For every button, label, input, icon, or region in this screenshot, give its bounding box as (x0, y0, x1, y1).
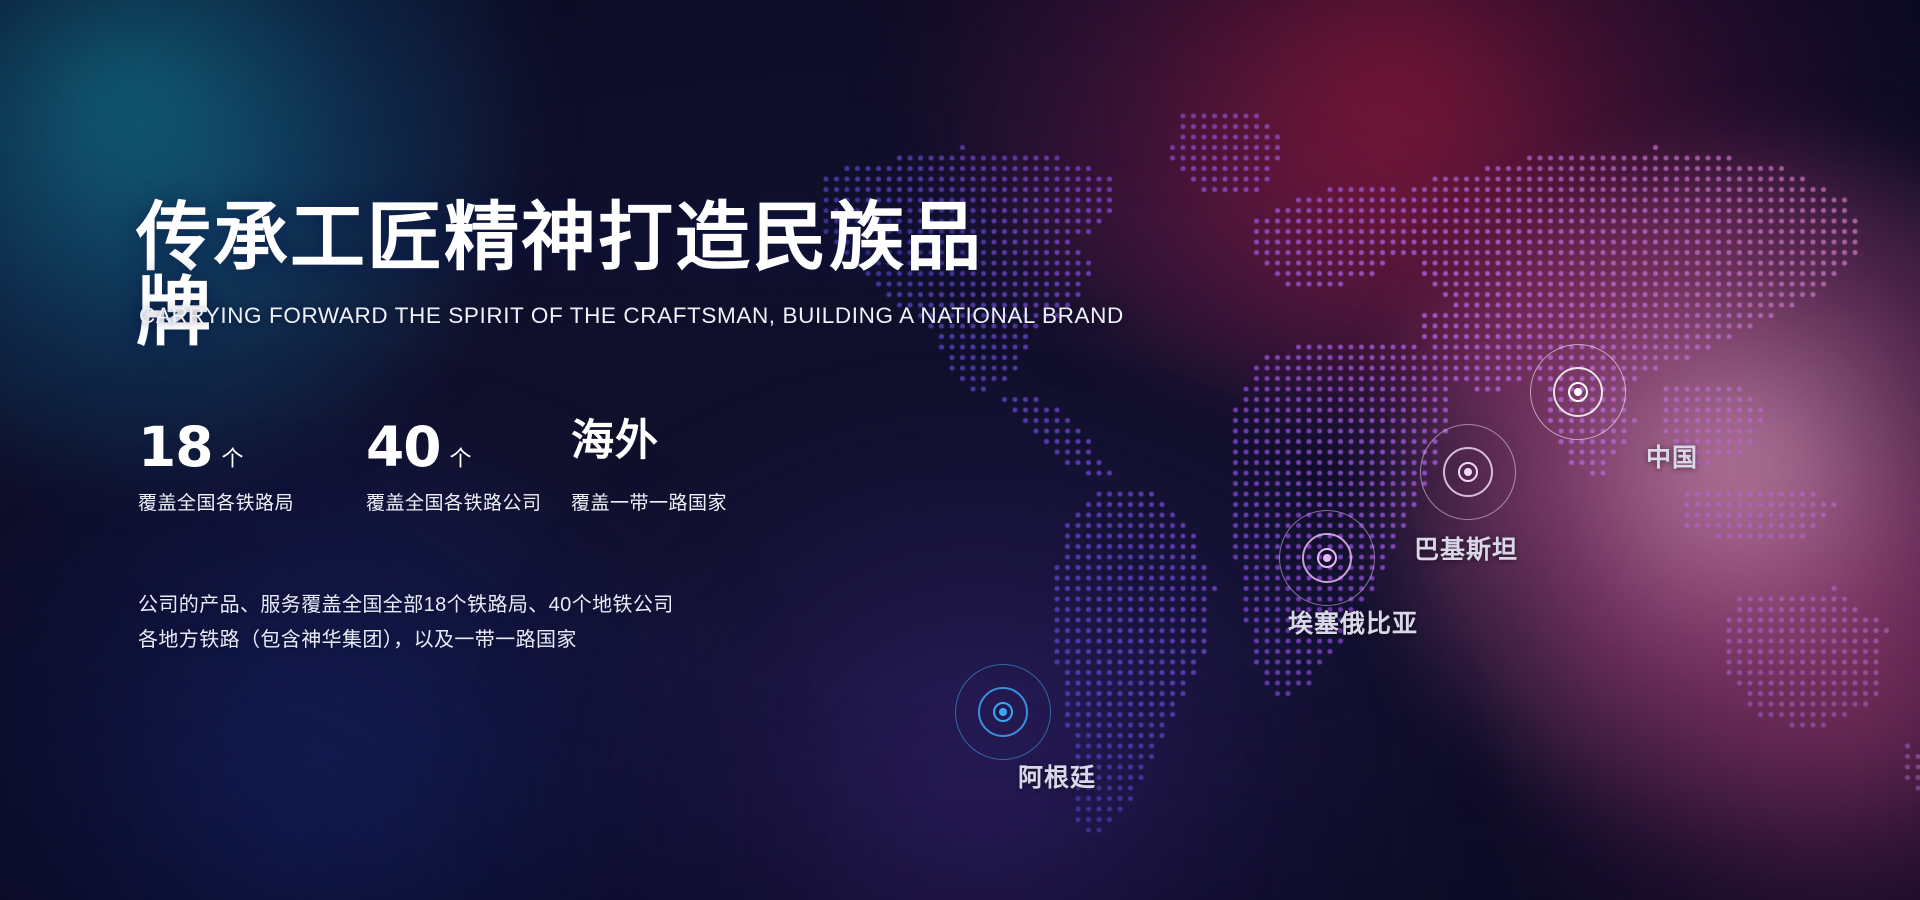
stats-row: 18个覆盖全国各铁路局40个覆盖全国各铁路公司海外覆盖一带一路国家 (138, 420, 727, 513)
description-line-2: 各地方铁路（包含神华集团），以及一带一路国家 (138, 623, 674, 658)
stat-number: 海外 (571, 420, 659, 463)
stat-value-row: 18个 (138, 420, 366, 478)
stat-description: 覆盖一带一路国家 (571, 494, 727, 513)
stat-item-3: 海外覆盖一带一路国家 (571, 420, 727, 513)
map-marker-label-pakistan: 巴基斯坦 (1414, 530, 1518, 566)
stat-number: 40 (366, 420, 441, 475)
stat-number: 18 (138, 420, 213, 475)
stat-description: 覆盖全国各铁路局 (138, 494, 366, 513)
stat-unit: 个 (450, 448, 472, 470)
stat-value-row: 40个 (366, 420, 571, 478)
stat-item-2: 40个覆盖全国各铁路公司 (366, 420, 571, 513)
stat-unit: 个 (222, 448, 244, 470)
map-marker-label-ethiopia: 埃塞俄比亚 (1288, 604, 1418, 640)
stat-description: 覆盖全国各铁路公司 (366, 494, 571, 513)
banner-content: 传承工匠精神打造民族品牌 CARRYING FORWARD THE SPIRIT… (136, 0, 1036, 900)
page-subtitle: CARRYING FORWARD THE SPIRIT OF THE CRAFT… (139, 305, 1124, 328)
map-marker-label-china: 中国 (1646, 438, 1698, 474)
stat-value-row: 海外 (571, 420, 727, 478)
banner-stage: 中国巴基斯坦埃塞俄比亚阿根廷 传承工匠精神打造民族品牌 CARRYING FOR… (0, 0, 1920, 900)
description-paragraph: 公司的产品、服务覆盖全国全部18个铁路局、40个地铁公司 各地方铁路（包含神华集… (138, 588, 674, 658)
stat-item-1: 18个覆盖全国各铁路局 (138, 420, 366, 513)
description-line-1: 公司的产品、服务覆盖全国全部18个铁路局、40个地铁公司 (138, 588, 674, 623)
